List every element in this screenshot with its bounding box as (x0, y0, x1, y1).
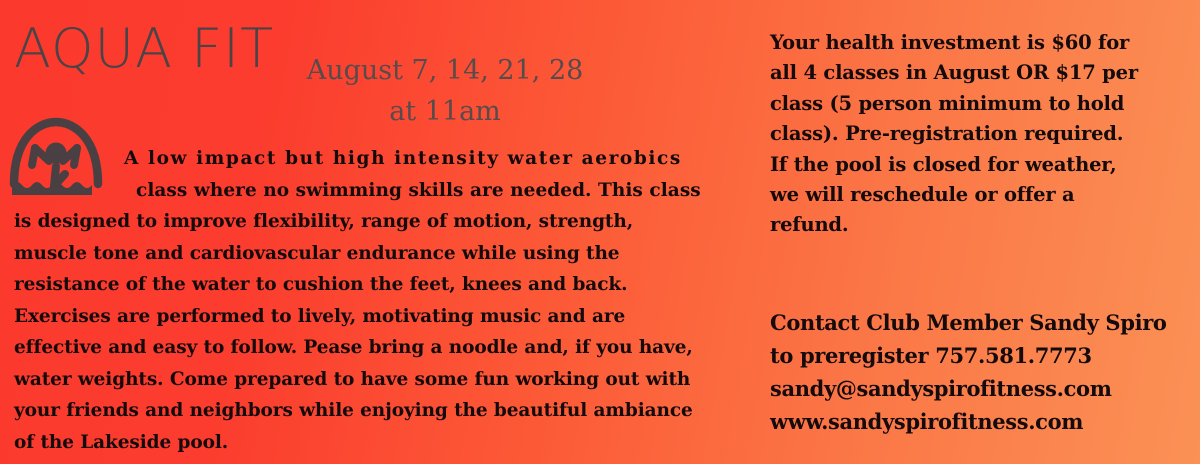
description-line: of the Lakeside pool. (14, 427, 729, 459)
description-line: effective and easy to follow. Pease brin… (14, 332, 729, 364)
contact-website-line[interactable]: www.sandyspirofitness.com (770, 406, 1195, 439)
pricing-line: Your health investment is $60 for (770, 28, 1190, 58)
description-line: water weights. Come prepared to have som… (14, 364, 729, 396)
pricing-line: class (5 person minimum to hold (770, 89, 1190, 119)
pricing-line: all 4 classes in August OR $17 per (770, 58, 1190, 88)
class-description: A low impact but high intensity water ae… (14, 143, 729, 458)
pricing-details: Your health investment is $60 for all 4 … (770, 28, 1190, 241)
contact-phone-line[interactable]: to preregister 757.581.7773 (770, 340, 1195, 373)
schedule-dates: August 7, 14, 21, 28 (307, 55, 584, 86)
description-line: your friends and neighbors while enjoyin… (14, 395, 729, 427)
pricing-line: refund. (770, 210, 1190, 240)
page-title: AQUA FIT (14, 22, 274, 76)
contact-details: Contact Club Member Sandy Spiro to prere… (770, 307, 1195, 438)
contact-name-line: Contact Club Member Sandy Spiro (770, 307, 1195, 340)
pricing-line: we will reschedule or offer a (770, 180, 1190, 210)
pricing-line: class). Pre-registration required. (770, 119, 1190, 149)
aqua-fit-flyer: AQUA FIT August 7, 14, 21, 28 at 11am (0, 0, 1200, 464)
description-line: muscle tone and cardiovascular endurance… (14, 238, 729, 270)
description-line: class where no swimming skills are neede… (14, 175, 729, 207)
description-line: is designed to improve flexibility, rang… (14, 206, 729, 238)
description-line: resistance of the water to cushion the f… (14, 269, 729, 301)
description-line: A low impact but high intensity water ae… (14, 143, 729, 175)
schedule-time: at 11am (300, 91, 590, 132)
pricing-line: If the pool is closed for weather, (770, 150, 1190, 180)
contact-email-line[interactable]: sandy@sandyspirofitness.com (770, 373, 1195, 406)
schedule-block: August 7, 14, 21, 28 at 11am (300, 50, 590, 132)
description-line: Exercises are performed to lively, motiv… (14, 301, 729, 333)
